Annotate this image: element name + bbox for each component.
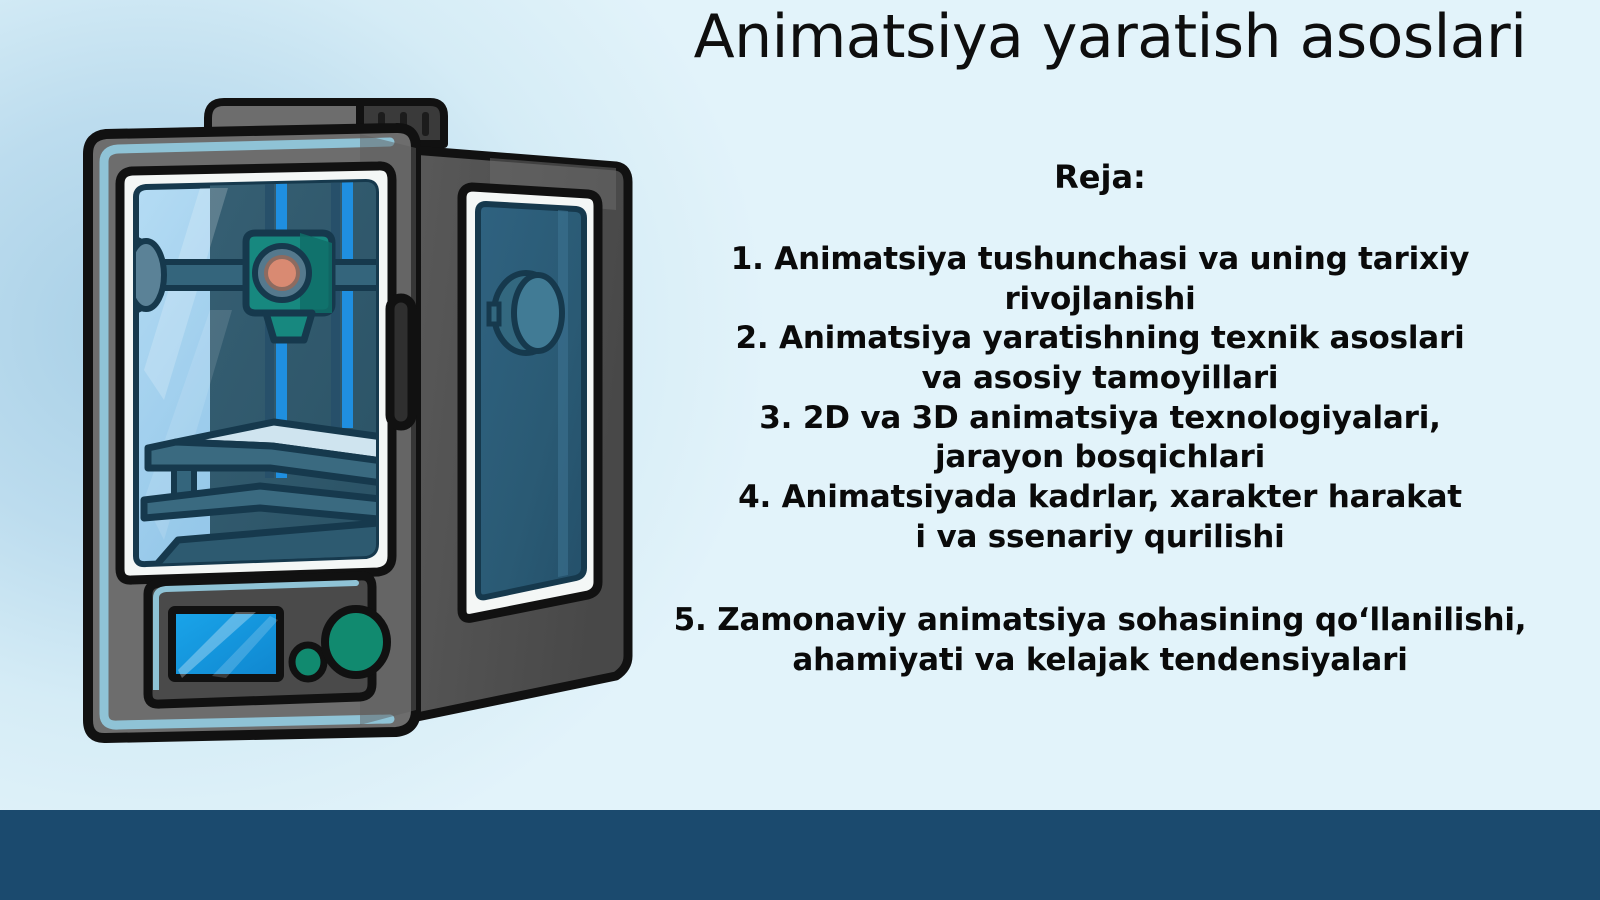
plan-line: 5. Zamonaviy animatsiya sohasining qo‘ll… (640, 601, 1560, 641)
plan-list: 1. Animatsiya tushunchasi va uning tarix… (640, 240, 1560, 681)
z-rod-right (342, 178, 353, 428)
page-title: Animatsiya yaratish asoslari (620, 6, 1600, 69)
build-plate (144, 422, 390, 570)
plan-line: 1. Animatsiya tushunchasi va uning tarix… (640, 240, 1560, 280)
control-panel (148, 576, 387, 704)
printer-side-panel (412, 150, 628, 718)
3d-printer-illustration (60, 70, 700, 770)
side-window-glass (478, 204, 584, 597)
nozzle-skirt (266, 313, 312, 340)
text-column: Animatsiya yaratish asoslari Reja: 1. An… (640, 0, 1580, 810)
nozzle-indicator (266, 257, 298, 289)
main-knob (325, 609, 387, 675)
plan-line: ahamiyati va kelajak tendensiyalari (640, 641, 1560, 681)
door-handle (390, 298, 412, 426)
filament-spool-icon (489, 273, 562, 353)
plan-line: 4. Animatsiyada kadrlar, xarakter haraka… (640, 478, 1560, 518)
plan-line: i va ssenariy qurilishi (640, 518, 1560, 558)
bottom-accent-bar (0, 810, 1600, 900)
plan-line: 3. 2D va 3D animatsiya texnologiyalari, (640, 399, 1560, 439)
plan-line: 2. Animatsiya yaratishning texnik asosla… (640, 319, 1560, 359)
lcd-screen (172, 610, 280, 678)
slide-canvas: Animatsiya yaratish asoslari Reja: 1. An… (0, 0, 1600, 900)
plan-line: va asosiy tamoyillari (640, 359, 1560, 399)
print-chamber-window (108, 166, 392, 580)
printer-group (88, 102, 628, 738)
small-button (292, 645, 324, 679)
plan-line: rivojlanishi (640, 280, 1560, 320)
plan-heading: Reja: (640, 158, 1560, 196)
plan-spacer (640, 557, 1560, 601)
plan-line: jarayon bosqichlari (640, 438, 1560, 478)
